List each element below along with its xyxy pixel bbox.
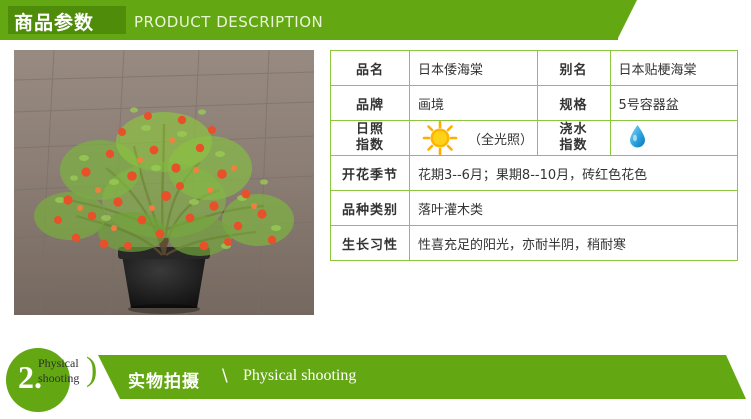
spec-label-sunlight-line1: 日照: [339, 122, 401, 138]
spec-value-name: 日本倭海棠: [410, 51, 538, 86]
section-en-line2: shooting: [38, 371, 79, 386]
spec-label-sunlight: 日照 指数: [331, 121, 410, 156]
spec-value-alias: 日本贴梗海棠: [610, 51, 738, 86]
water-drop-icon: [629, 124, 646, 147]
spec-label-size: 规格: [537, 86, 610, 121]
spec-label-brand: 品牌: [331, 86, 410, 121]
header-title-cn: 商品参数: [14, 8, 94, 35]
footer-label-en: Physical shooting: [243, 367, 356, 385]
spec-label-sunlight-line2: 指数: [339, 138, 401, 154]
table-row: 品种类别 落叶灌木类: [331, 191, 738, 226]
product-photo: [14, 50, 314, 315]
spec-label-category: 品种类别: [331, 191, 410, 226]
spec-value-growth-habit: 性喜充足的阳光，亦耐半阴，稍耐寒: [410, 226, 738, 261]
spec-label-alias: 别名: [537, 51, 610, 86]
spec-value-bloom-season: 花期3--6月；果期8--10月，砖红色花色: [410, 156, 738, 191]
table-row: 开花季节 花期3--6月；果期8--10月，砖红色花色: [331, 156, 738, 191]
product-photo-image: [14, 50, 314, 315]
spec-table: 品名 日本倭海棠 别名 日本贴梗海棠 品牌 画境 规格 5号容器盆 日照 指数: [330, 50, 738, 261]
spec-value-sunlight: （全光照）: [410, 121, 538, 156]
sun-icon: [418, 121, 462, 155]
spec-value-sunlight-text: （全光照）: [468, 129, 529, 148]
spec-value-category: 落叶灌木类: [410, 191, 738, 226]
table-row: 日照 指数: [331, 121, 738, 156]
spec-label-watering-line2: 指数: [546, 138, 602, 154]
footer-bar-left-notch: [98, 355, 120, 399]
spec-value-brand: 画境: [410, 86, 538, 121]
table-row: 生长习性 性喜充足的阳光，亦耐半阴，稍耐寒: [331, 226, 738, 261]
spec-label-name: 品名: [331, 51, 410, 86]
footer-bar-right-notch: [726, 355, 746, 399]
spec-value-size: 5号容器盆: [610, 86, 738, 121]
header-banner: 商品参数 PRODUCT DESCRIPTION: [0, 0, 751, 40]
footer-section: 2. Physical shooting ) 实物拍摄 \ Physical s…: [0, 345, 751, 419]
footer-label-separator: \: [222, 366, 228, 386]
header-title-en: PRODUCT DESCRIPTION: [134, 13, 323, 31]
spec-value-watering: [610, 121, 738, 156]
footer-slash-decor: ): [86, 351, 97, 389]
spec-label-watering-line1: 浇水: [546, 122, 602, 138]
table-row: 品名 日本倭海棠 别名 日本贴梗海棠: [331, 51, 738, 86]
spec-label-bloom-season: 开花季节: [331, 156, 410, 191]
footer-label-cn: 实物拍摄: [128, 367, 200, 392]
spec-label-growth-habit: 生长习性: [331, 226, 410, 261]
spec-label-watering: 浇水 指数: [537, 121, 610, 156]
table-row: 品牌 画境 规格 5号容器盆: [331, 86, 738, 121]
section-en-line1: Physical: [38, 356, 79, 371]
